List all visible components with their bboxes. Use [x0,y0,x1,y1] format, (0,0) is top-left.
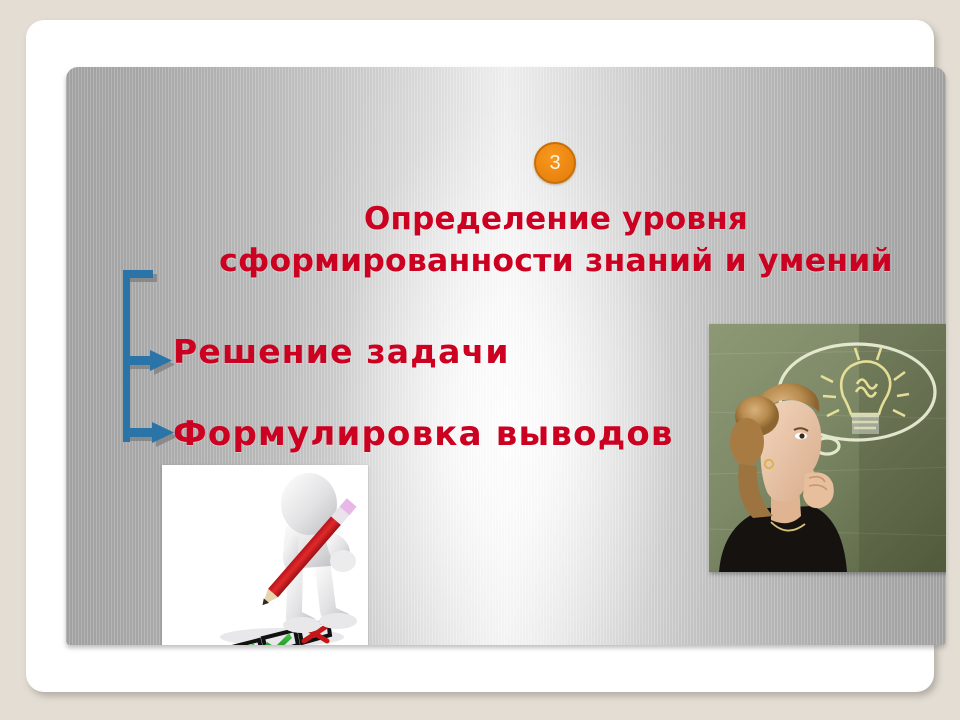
page-title-line-1: Определение уровня [116,198,946,240]
bullet-item-2: Формулировка выводов [173,414,674,454]
chalkboard-lightbulb-photo [709,324,946,572]
slide-number-label: 3 [549,153,560,173]
slide-surface: 3 Определение уровня сформированности зн… [66,67,946,645]
slide-content-area: 3 Определение уровня сформированности зн… [66,67,946,645]
page-title-line-2: сформированности знаний и умений [116,240,946,283]
bullet-item-1: Решение задачи [173,332,510,371]
page-title: Определение уровня сформированности знан… [116,198,946,283]
slide-number-badge: 3 [534,142,576,184]
thinking-woman-photo [709,324,946,572]
slide-card: 3 Определение уровня сформированности зн… [26,20,934,692]
checklist-illustration [162,465,368,645]
checklist-figure-icon [162,465,368,645]
